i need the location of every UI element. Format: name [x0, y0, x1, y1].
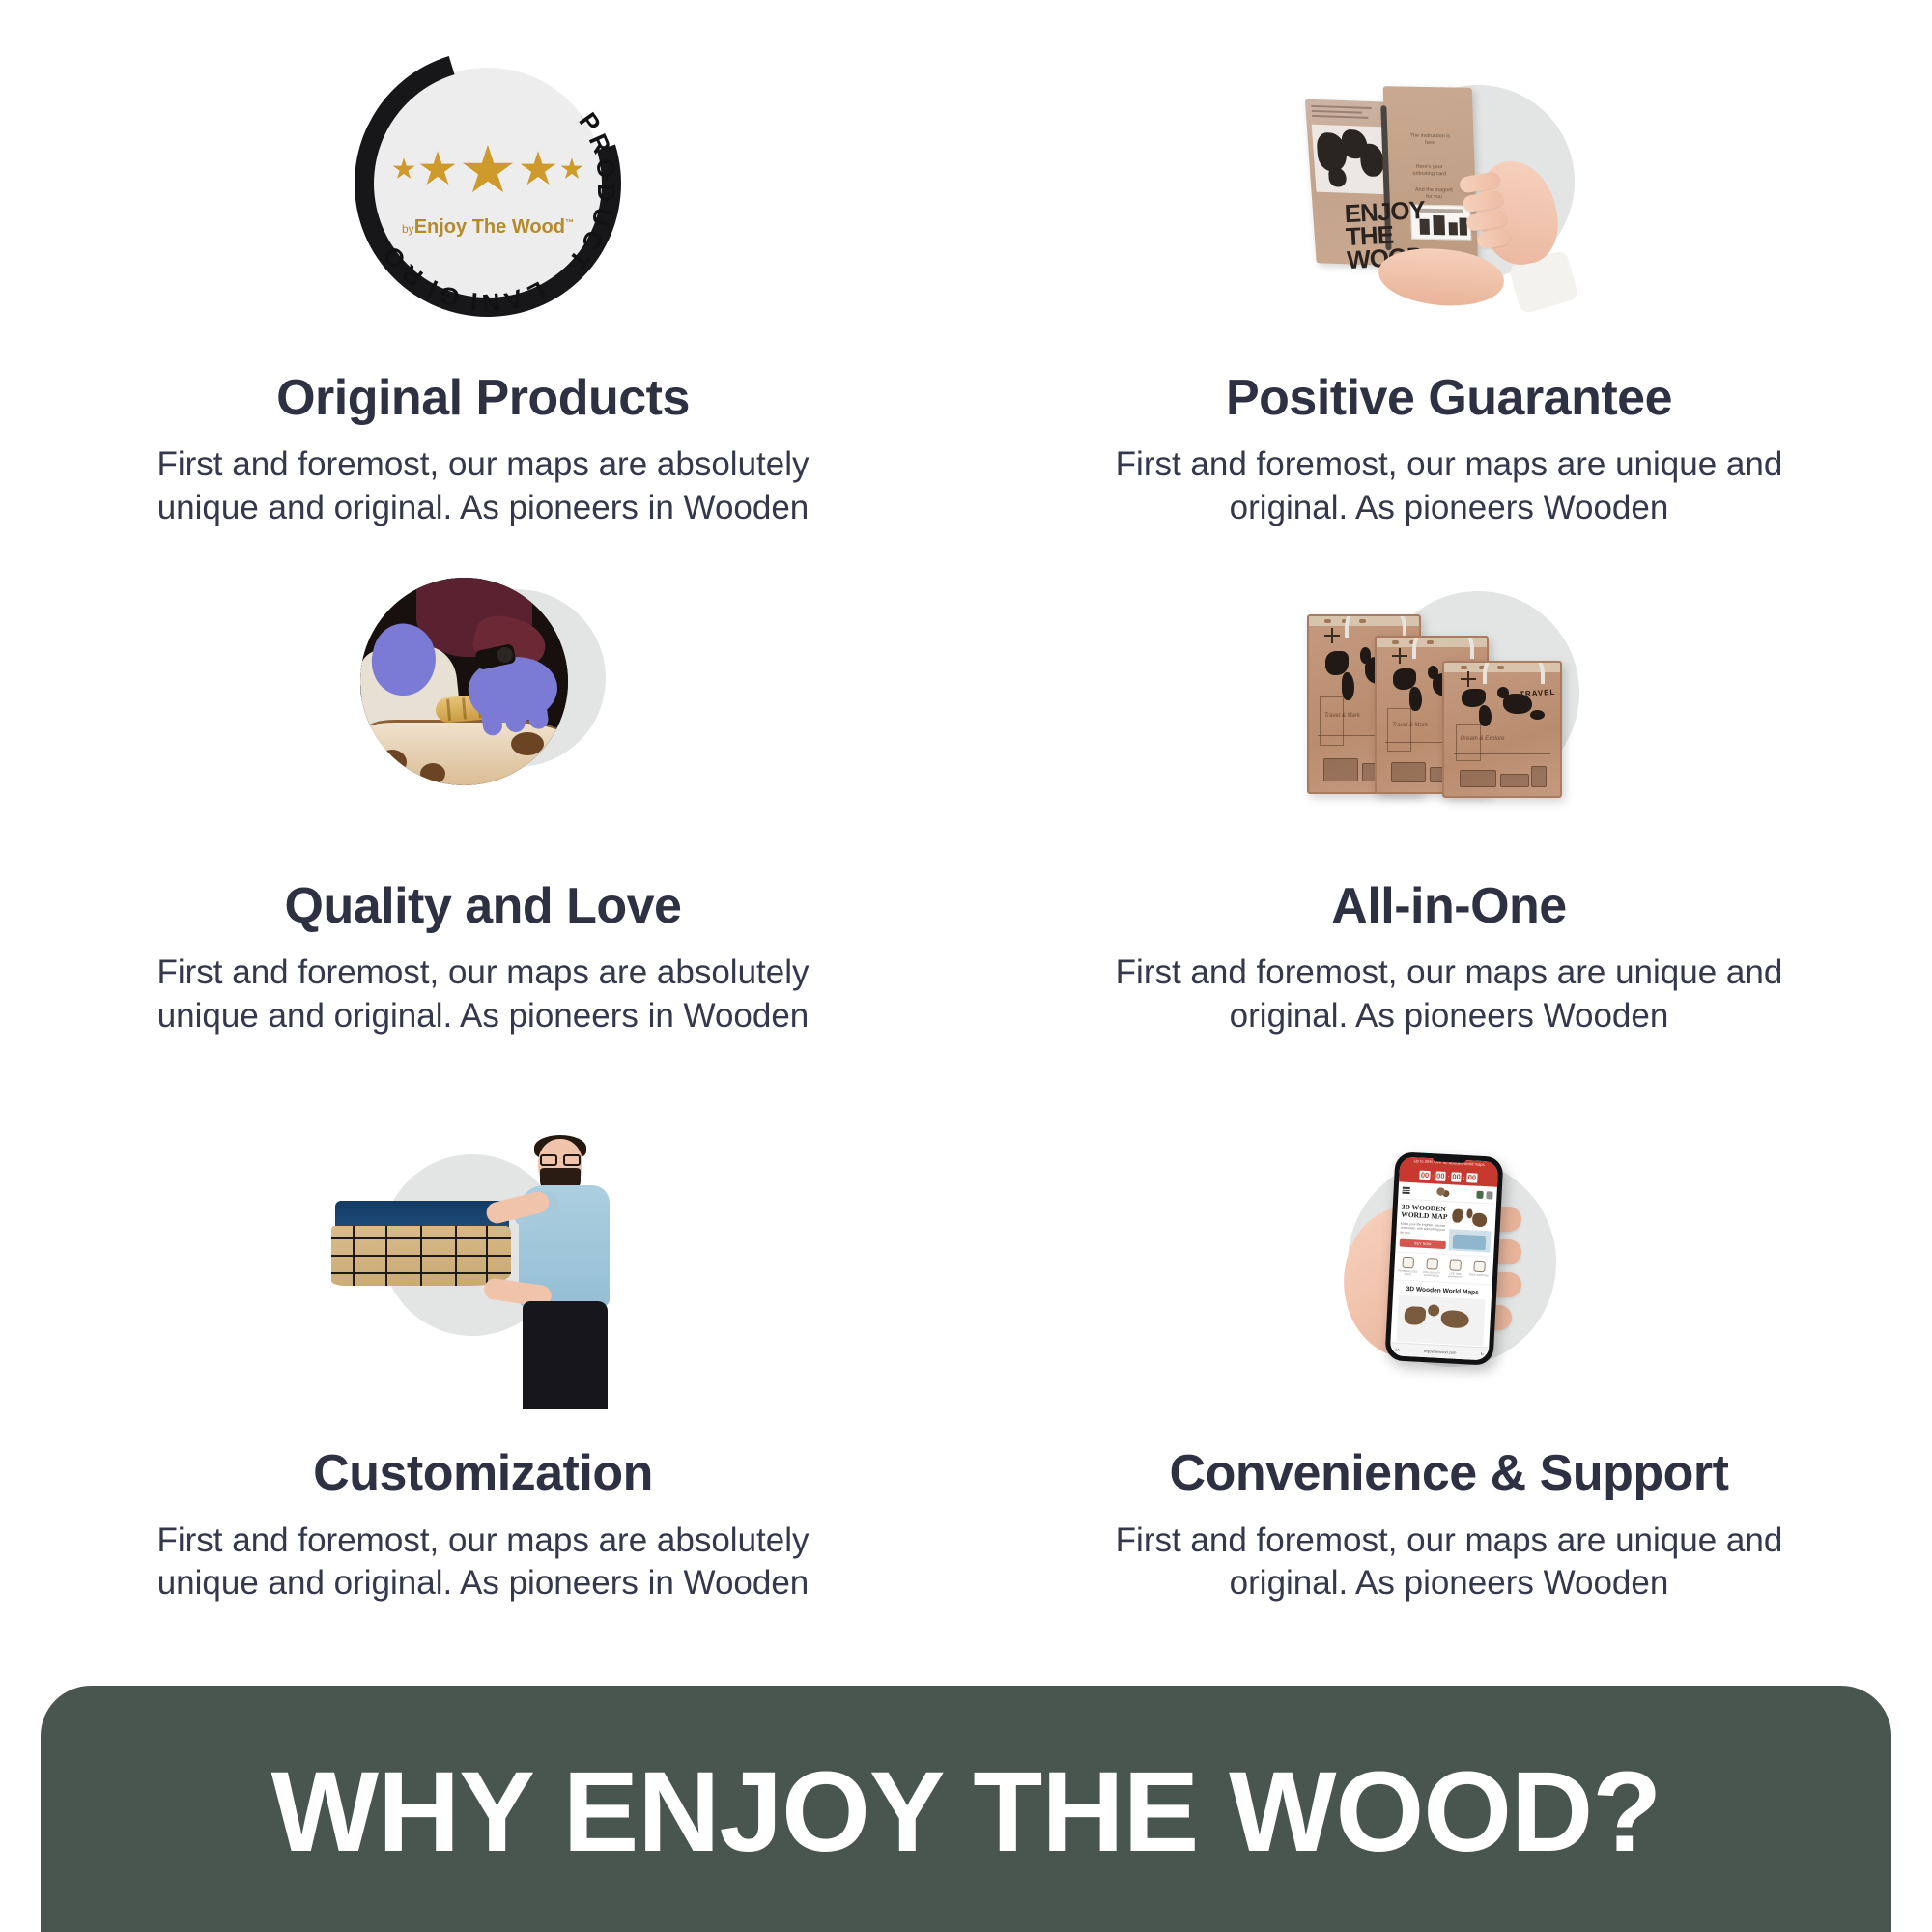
feature-grid: P R O D U C T L A N I G I R O ★ [0, 0, 1932, 1686]
gift-box-small: TRAVEL Dream & Explore [1442, 661, 1562, 798]
box-handle [1345, 614, 1406, 638]
usp-item: PERSONALISED MAPS [1396, 1257, 1420, 1277]
url-text[interactable]: enjoythewood.com [1424, 1349, 1457, 1355]
feature-card-positive-guarantee: The instruction is here Here's your unbo… [966, 0, 1932, 562]
hamburger-menu-icon[interactable] [1402, 1186, 1409, 1196]
craftsperson-gluing-wooden-map-photo [343, 576, 623, 856]
banner-headline: WHY ENJOY THE WOOD? [271, 1747, 1662, 1878]
phone-screen: Up to 35% OFF on wooden world maps 00 : … [1390, 1157, 1499, 1361]
wooden-map-board [366, 720, 568, 785]
feature-body: First and foremost, our maps are absolut… [116, 1520, 850, 1606]
feature-card-all-in-one: Travel & Mark Travel & Mark [966, 562, 1932, 1124]
hero-subtitle: Make your life brighter, warmer and cosi… [1400, 1222, 1447, 1237]
header-icons[interactable] [1476, 1190, 1492, 1199]
account-icon[interactable] [1486, 1191, 1492, 1199]
personalised-icon [1403, 1257, 1415, 1269]
feature-body: First and foremost, our maps are unique … [1111, 952, 1787, 1038]
badge-brand-label: byEnjoy The Wood™ [402, 216, 574, 239]
countdown-cell: 00 [1435, 1172, 1446, 1182]
world-map-print [1456, 684, 1550, 729]
wooden-city-map [331, 1201, 511, 1290]
bottom-banner: WHY ENJOY THE WOOD? [41, 1686, 1891, 1932]
hero-section: 3D WOODEN WORLD MAP Make your life brigh… [1395, 1200, 1496, 1257]
compass-icon [1324, 628, 1340, 643]
hand-holding-phone-with-website-photo: Up to 35% OFF on wooden world maps 00 : … [1309, 1143, 1589, 1423]
feature-card-original-products: P R O D U C T L A N I G I R O ★ [0, 0, 966, 562]
box-handle [1412, 636, 1474, 659]
feature-body: First and foremost, our maps are unique … [1111, 1520, 1787, 1606]
feature-title: Customization [313, 1446, 653, 1501]
brochure-map-photo [1312, 125, 1392, 195]
trousers [523, 1301, 608, 1409]
brochure-callout: The instruction is here [1407, 133, 1453, 148]
photo-circle-mask [360, 578, 568, 785]
site-logo[interactable] [1434, 1186, 1454, 1199]
sofa-graphic [1452, 1234, 1486, 1250]
countdown-cell: 00 [1420, 1171, 1431, 1181]
feature-card-convenience-and-support: Up to 35% OFF on wooden world maps 00 : … [966, 1123, 1932, 1686]
feature-title: Positive Guarantee [1226, 371, 1672, 426]
man-holding-wooden-city-map-photo [324, 1143, 642, 1423]
hero-image [1449, 1207, 1492, 1253]
brochure-text-lines [1311, 105, 1372, 122]
zoom-label[interactable]: aA [1395, 1348, 1400, 1352]
brochure-callout: Here's your unboxing card [1406, 164, 1452, 179]
feature-body: First and foremost, our maps are absolut… [116, 443, 850, 530]
feature-body: First and foremost, our maps are unique … [1111, 443, 1787, 530]
feature-title: Original Products [276, 371, 690, 426]
original-product-badge: P R O D U C T L A N I G I R O ★ [343, 68, 623, 348]
buy-now-button[interactable]: BUY NOW [1400, 1238, 1447, 1249]
feature-card-customization: Customization First and foremost, our ma… [0, 1123, 966, 1686]
usp-item: FREE SHIPPING [1467, 1261, 1492, 1281]
reload-icon[interactable]: ↻ [1480, 1351, 1484, 1356]
cart-icon[interactable] [1476, 1190, 1483, 1198]
box-handle [1483, 661, 1545, 684]
warranty-icon [1450, 1260, 1463, 1272]
hands-holding-brochure-photo: The instruction is here Here's your unbo… [1290, 68, 1608, 348]
man-figure [494, 1137, 619, 1407]
map-land-area [331, 1226, 511, 1286]
feature-title: All-in-One [1331, 879, 1566, 934]
five-stars-icon: ★ ★ ★ ★ ★ [391, 143, 585, 195]
feature-body: First and foremost, our maps are absolut… [116, 952, 850, 1038]
shipping-icon [1473, 1261, 1486, 1273]
hero-title: 3D WOODEN WORLD MAP [1401, 1204, 1448, 1221]
glasses-icon [538, 1154, 584, 1166]
three-kraft-gift-boxes-photo: Travel & Mark Travel & Mark [1290, 576, 1608, 856]
quality-icon [1426, 1258, 1438, 1270]
sofa-illustration [1454, 753, 1551, 788]
feature-card-quality-and-love: Quality and Love First and foremost, our… [0, 562, 966, 1124]
product-image[interactable] [1396, 1295, 1485, 1347]
feature-title: Convenience & Support [1170, 1446, 1729, 1501]
feature-title: Quality and Love [285, 879, 682, 934]
usp-item: LIFE TIME WARRANTY [1443, 1259, 1467, 1279]
countdown-cell: 00 [1451, 1173, 1462, 1183]
countdown-cell: 00 [1466, 1173, 1477, 1183]
usp-item: 100% QUALITY GUARANTEE [1420, 1258, 1444, 1278]
smartphone: Up to 35% OFF on wooden world maps 00 : … [1384, 1152, 1503, 1367]
